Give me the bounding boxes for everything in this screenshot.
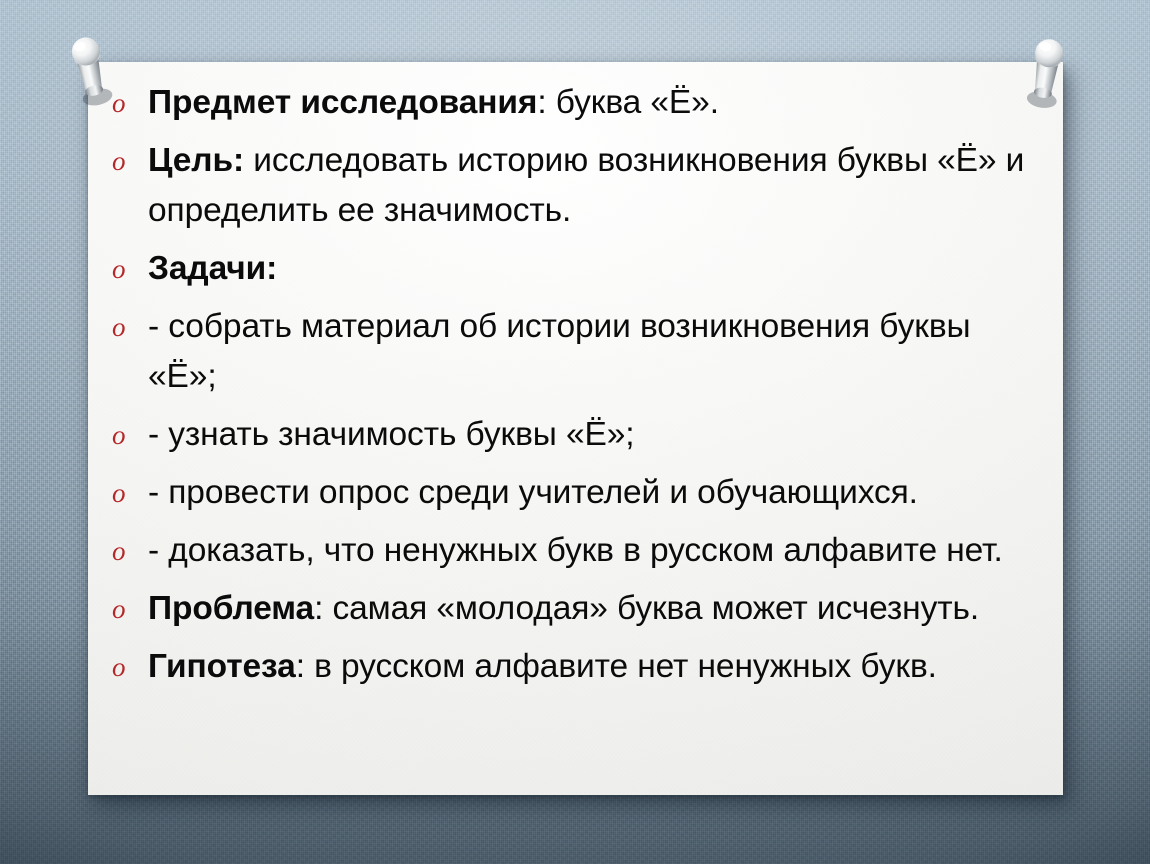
list-item-rest: - узнать значимость буквы «Ё»;	[148, 416, 634, 453]
list-item[interactable]: o Задачи:	[108, 244, 1043, 294]
list-item-text: - собрать материал об истории возникнове…	[148, 302, 1043, 402]
list-item[interactable]: o - провести опрос среди учителей и обуч…	[108, 468, 1043, 518]
bullet-o-icon: o	[108, 468, 148, 518]
bullet-o-icon: o	[108, 584, 148, 634]
bullet-o-icon: o	[108, 642, 148, 692]
list-item[interactable]: o Цель: исследовать историю возникновени…	[108, 136, 1043, 236]
list-item-text: - провести опрос среди учителей и обучаю…	[148, 468, 1043, 518]
list-item[interactable]: o - узнать значимость буквы «Ё»;	[108, 410, 1043, 460]
list-item-text: - узнать значимость буквы «Ё»;	[148, 410, 1043, 460]
paper-card: o Предмет исследования: буква «Ё». o Цел…	[88, 62, 1063, 795]
list-item-lead: Гипотеза	[148, 648, 296, 685]
list-item-rest: - доказать, что ненужных букв в русском …	[148, 532, 1003, 569]
bullet-o-icon: o	[108, 410, 148, 460]
bullet-o-icon: o	[108, 526, 148, 576]
bullet-list: o Предмет исследования: буква «Ё». o Цел…	[108, 78, 1043, 692]
bullet-o-icon: o	[108, 302, 148, 352]
list-item-lead: Проблема	[148, 590, 314, 627]
list-item-text: Цель: исследовать историю возникновения …	[148, 136, 1043, 236]
list-item-text: Гипотеза: в русском алфавите нет ненужны…	[148, 642, 1043, 692]
list-item-lead: Предмет исследования	[148, 84, 537, 121]
list-item[interactable]: o - собрать материал об истории возникно…	[108, 302, 1043, 402]
list-item-text: - доказать, что ненужных букв в русском …	[148, 526, 1043, 576]
list-item-text: Проблема: самая «молодая» буква может ис…	[148, 584, 1043, 634]
list-item[interactable]: o Гипотеза: в русском алфавите нет ненуж…	[108, 642, 1043, 692]
bullet-o-icon: o	[108, 78, 148, 128]
list-item-lead: Цель:	[148, 142, 244, 179]
list-item-rest: исследовать историю возникновения буквы …	[148, 142, 1034, 229]
list-item-text: Задачи:	[148, 244, 1043, 294]
bullet-o-icon: o	[108, 244, 148, 294]
list-item-lead: Задачи:	[148, 250, 277, 287]
bullet-o-icon: o	[108, 136, 148, 186]
list-item-rest: : в русском алфавите нет ненужных букв.	[296, 648, 937, 685]
list-item-rest: - провести опрос среди учителей и обучаю…	[148, 474, 918, 511]
list-item-rest: : самая «молодая» буква может исчезнуть.	[314, 590, 979, 627]
list-item[interactable]: o Предмет исследования: буква «Ё».	[108, 78, 1043, 128]
list-item-text: Предмет исследования: буква «Ё».	[148, 78, 1043, 128]
list-item-rest: : буква «Ё».	[537, 84, 719, 121]
list-item-rest: - собрать материал об истории возникнове…	[148, 308, 980, 395]
list-item[interactable]: o Проблема: самая «молодая» буква может …	[108, 584, 1043, 634]
list-item[interactable]: o - доказать, что ненужных букв в русско…	[108, 526, 1043, 576]
